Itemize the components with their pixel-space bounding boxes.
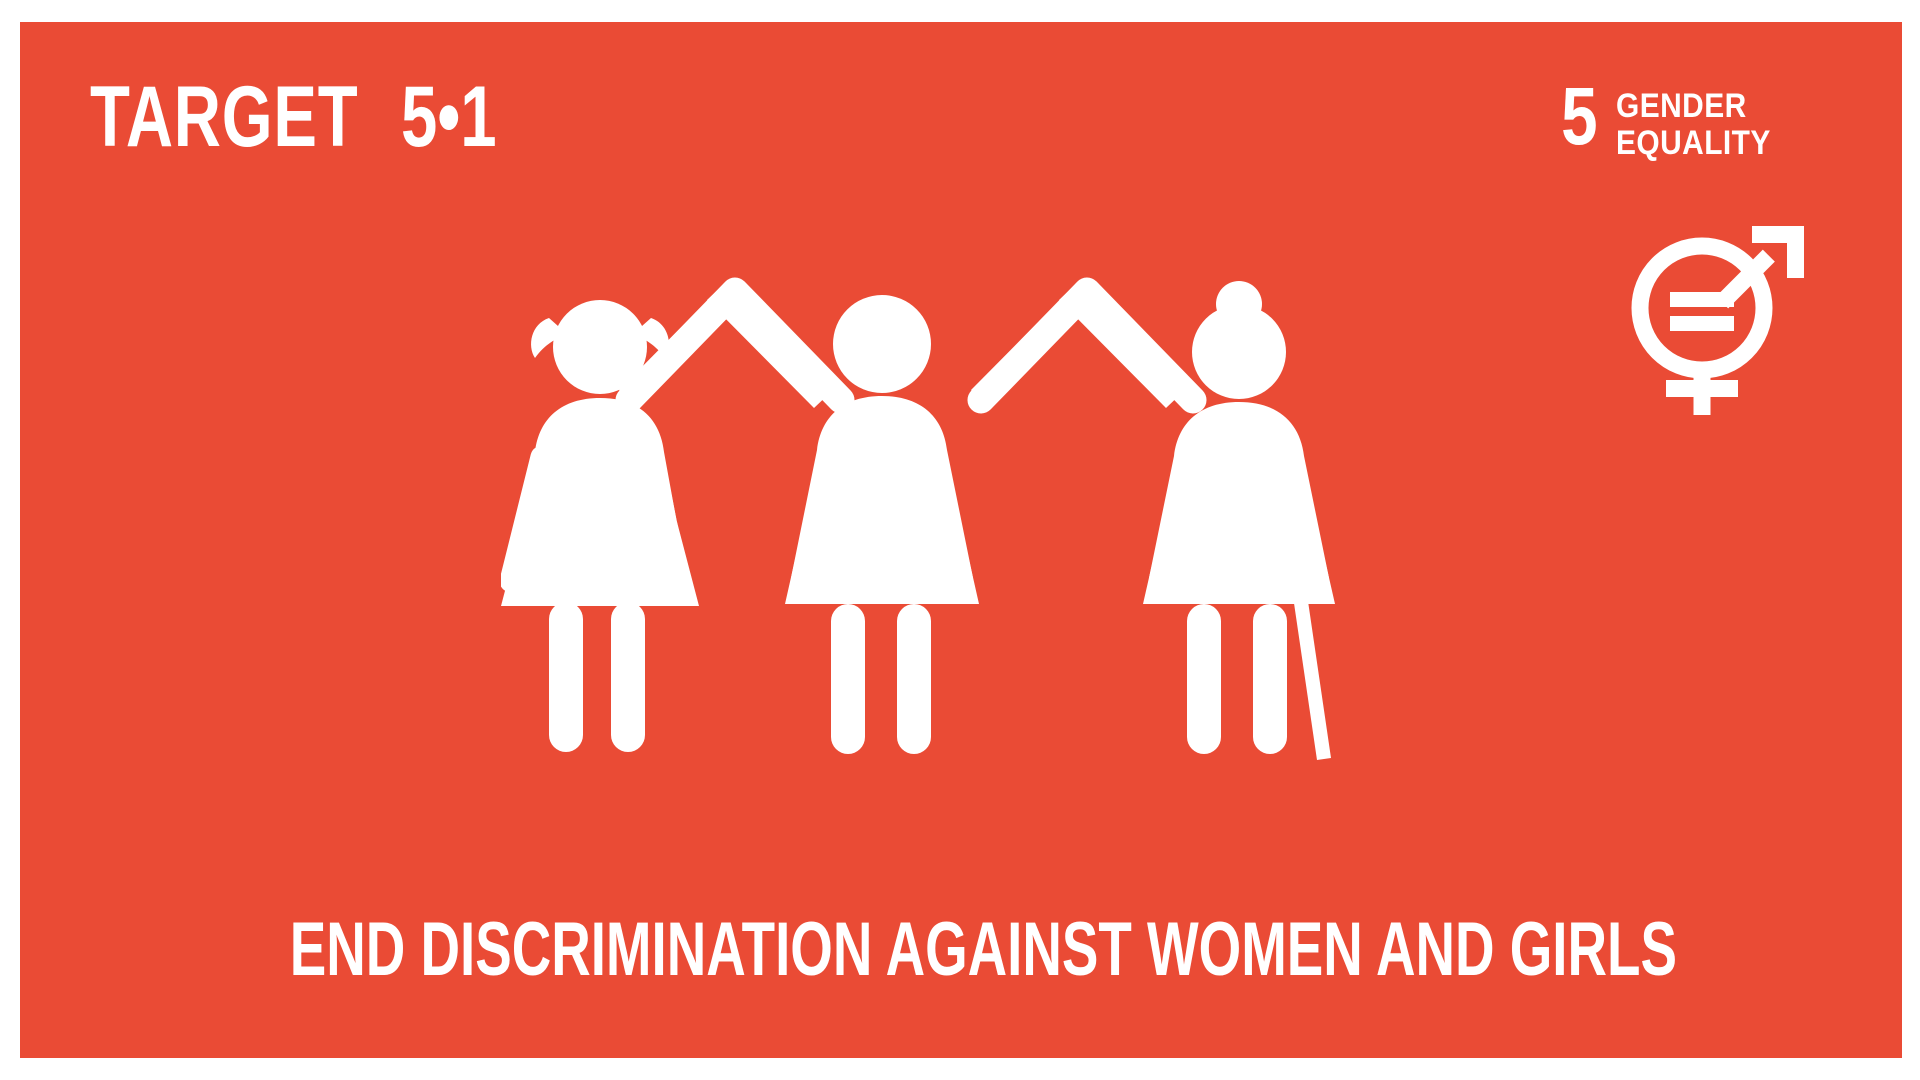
target-word: TARGET: [90, 74, 358, 160]
sdg-goal-badge: 5 GENDER EQUALITY: [1552, 82, 1792, 161]
three-women-holding-hands-pictogram: [501, 272, 1421, 832]
tagline: END DISCRIMINATION AGAINST WOMEN AND GIR…: [20, 912, 1902, 988]
tagline-text: END DISCRIMINATION AGAINST WOMEN AND GIR…: [290, 912, 1677, 988]
target-label: TARGET 5•1: [90, 74, 527, 160]
target-number: 5•1: [401, 74, 497, 160]
sdg-goal-number: 5: [1562, 82, 1598, 153]
sdg-target-poster: TARGET 5•1 5 GENDER EQUALITY: [20, 22, 1902, 1058]
figure-elderly-woman-with-cane: [1143, 281, 1335, 760]
sdg-goal-title-line2: EQUALITY: [1616, 125, 1771, 162]
sdg-goal-title: GENDER EQUALITY: [1616, 88, 1792, 161]
gender-equality-icon: [1624, 208, 1814, 418]
sdg-goal-title-line1: GENDER: [1616, 88, 1771, 125]
